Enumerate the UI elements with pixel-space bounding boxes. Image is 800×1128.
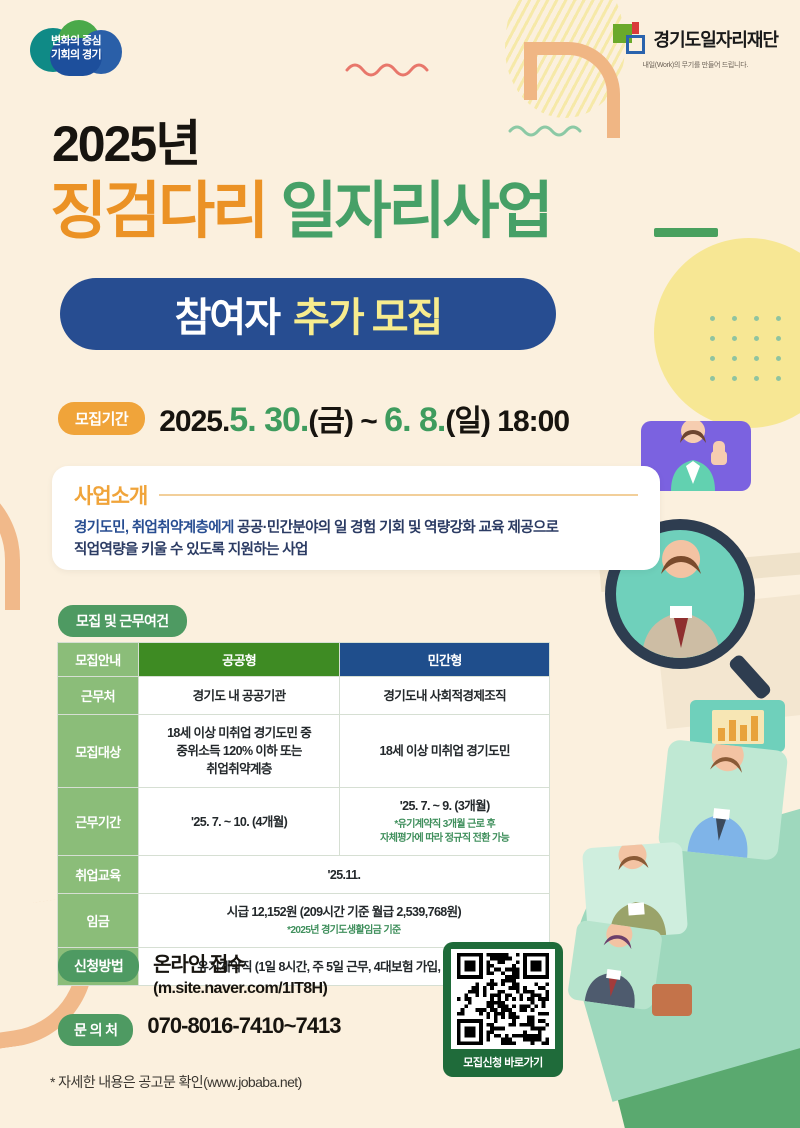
row-value: '25. 7. ~ 9. (3개월)*유기계약직 3개월 근로 후자체평가에 따… [340,788,550,856]
person-card-illustration-3 [567,919,663,1010]
intro-line2: 직업역량을 키울 수 있도록 지원하는 사업 [74,539,638,561]
application-method-badge: 신청방법 [58,950,139,982]
row-value: 경기도 내 공공기관 [138,677,340,715]
magnifier-handle-icon [727,653,772,701]
jobaba-foundation-logo: 경기도일자리재단 내일(Work)의 무기를 만들어 드립니다. [613,22,778,70]
qr-code-box[interactable]: 모집신청 바로가기 [443,942,563,1077]
orange-arc-stem-decoration [524,42,537,100]
program-intro-card: 사업소개 경기도민, 취업취약계층에게 공공·민간분야의 일 경험 기회 및 역… [52,466,660,570]
conditions-table: 모집안내 공공형 민간형 근무처경기도 내 공공기관경기도내 사회적경제조직모집… [57,642,550,986]
recruitment-period: 모집기간 2025.5. 30.(금) ~ 6. 8.(일) 18:00 [58,396,569,440]
poster-root: 변화의 중심 기회의 경기 경기도일자리재단 내일(Work)의 무기를 만들어… [0,0,800,1128]
intro-divider [159,494,638,496]
period-start-date: 5. 30. [229,401,308,439]
dot-grid-decoration [710,316,796,390]
qr-caption: 모집신청 바로가기 [463,1054,543,1070]
row-label: 취업교육 [58,856,139,894]
row-value: 18세 이상 미취업 경기도민 [340,715,550,788]
foundation-tagline: 내일(Work)의 무기를 만들어 드립니다. [613,60,778,70]
application-method-group: 온라인 접수 (m.site.naver.com/1IT8H) [153,948,327,998]
column-header-private: 민간형 [340,643,550,677]
period-end-date: 6. 8. [384,401,445,439]
row-label: 모집대상 [58,715,139,788]
contact-badge: 문 의 처 [58,1014,133,1046]
row-label: 근무처 [58,677,139,715]
period-tilde: ~ [360,405,377,438]
peach-arc-left-decoration [0,470,20,610]
intro-line1-rest: 공공·민간분야의 일 경험 기회 및 역량강화 교육 제공으로 [234,520,559,536]
briefcase-illustration [652,984,692,1016]
green-bar-decoration [654,228,718,237]
foundation-name: 경기도일자리재단 [654,26,778,52]
row-value: 경기도내 사회적경제조직 [340,677,550,715]
page-title-green: 일자리사업 [280,177,550,246]
gyeonggi-logo-line2: 기회의 경기 [28,48,124,62]
row-note: *유기계약직 3개월 근로 후자체평가에 따라 정규직 전환 가능 [346,818,543,846]
period-prefix: 2025. [159,405,229,438]
qr-code-image[interactable] [451,949,555,1049]
red-wave-decoration [345,58,435,80]
green-wave-decoration [508,120,588,140]
row-value: '25. 7. ~ 10. (4개월) [138,788,340,856]
yellow-circle-decoration [654,238,800,428]
table-row: 근무기간'25. 7. ~ 10. (4개월)'25. 7. ~ 9. (3개월… [58,788,550,856]
page-title-main: 징검다리 일자리사업 [50,160,551,250]
application-section: 신청방법 온라인 접수 (m.site.naver.com/1IT8H) 문 의… [58,948,340,1060]
recruitment-banner: 참여자 추가 모집 [60,278,556,350]
row-merged-value: '25.11. [138,856,549,894]
row-value: 18세 이상 미취업 경기도민 중중위소득 120% 이하 또는취업취약계층 [138,715,340,788]
table-row: 근무처경기도 내 공공기관경기도내 사회적경제조직 [58,677,550,715]
period-time: 18:00 [497,405,569,438]
gyeonggi-province-logo: 변화의 중심 기회의 경기 [28,18,124,80]
table-row: 모집대상18세 이상 미취업 경기도민 중중위소득 120% 이하 또는취업취약… [58,715,550,788]
gyeonggi-logo-line1: 변화의 중심 [28,34,124,48]
contact-phone[interactable]: 070-8016-7410~7413 [147,1013,340,1039]
application-url[interactable]: (m.site.naver.com/1IT8H) [153,980,327,998]
row-label: 근무기간 [58,788,139,856]
intro-heading: 사업소개 [74,480,147,510]
page-title-orange: 징검다리 [50,177,266,246]
table-row: 임금시급 12,152원 (209시간 기준 월급 2,539,768원)*20… [58,894,550,948]
banner-white-text: 참여자 [175,285,279,343]
footnote: * 자세한 내용은 공고문 확인(www.jobaba.net) [50,1072,302,1092]
column-header-public: 공공형 [138,643,340,677]
period-start-day: (금) [308,405,353,438]
intro-highlight: 경기도민, 취업취약계층에게 [74,520,234,536]
application-method-value: 온라인 접수 [153,948,327,977]
orange-arc-decoration [524,42,620,138]
row-label: 임금 [58,894,139,948]
striped-leaf-decoration [505,0,625,118]
column-header-guide: 모집안내 [58,643,139,677]
foundation-mark-icon [613,22,647,56]
period-value: 2025.5. 30.(금) ~ 6. 8.(일) 18:00 [159,396,569,440]
banner-yellow-text: 추가 모집 [293,285,441,343]
application-method-row: 신청방법 온라인 접수 (m.site.naver.com/1IT8H) [58,948,340,998]
conditions-badge: 모집 및 근무여건 [58,605,187,637]
row-merged-value: 시급 12,152원 (209시간 기준 월급 2,539,768원)*2025… [138,894,549,948]
period-end-day: (일) [445,405,490,438]
contact-row: 문 의 처 070-8016-7410~7413 [58,1012,340,1046]
row-note: *2025년 경기도생활임금 기준 [145,924,543,938]
period-badge: 모집기간 [58,402,145,435]
table-header-row: 모집안내 공공형 민간형 [58,643,550,677]
intro-body: 경기도민, 취업취약계층에게 공공·민간분야의 일 경험 기회 및 역량강화 교… [74,517,638,561]
table-row: 취업교육'25.11. [58,856,550,894]
intro-heading-row: 사업소개 [74,480,638,510]
